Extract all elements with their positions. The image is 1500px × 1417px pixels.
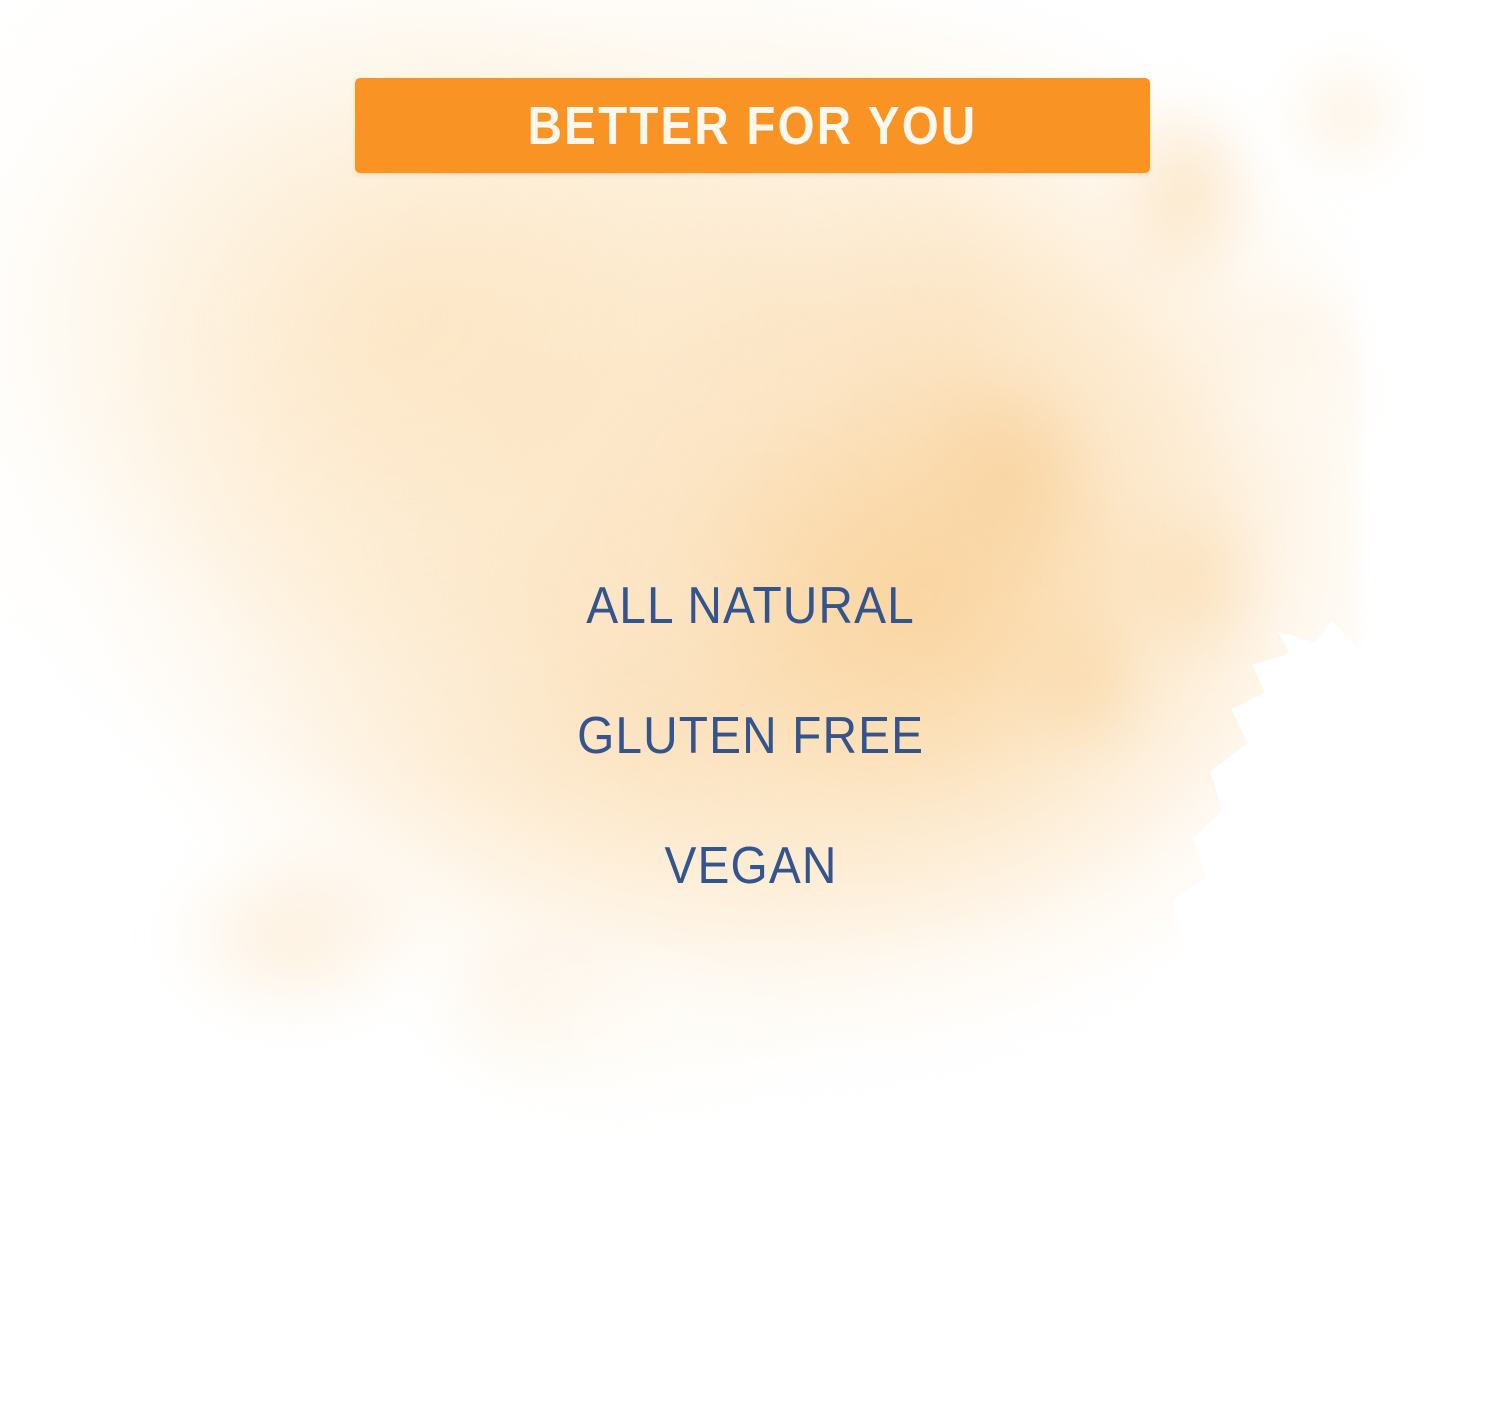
wash-highlight-top-right bbox=[1120, 250, 1450, 550]
wash-fade-bottom bbox=[0, 1197, 1500, 1417]
claim-vegan: VEGAN bbox=[664, 840, 837, 892]
banner-label: BETTER FOR YOU bbox=[528, 99, 978, 153]
wash-edge-bottom bbox=[0, 1157, 1120, 1417]
wash-edge-bottom-right bbox=[880, 1017, 1500, 1417]
wash-highlight-center bbox=[300, 880, 940, 1180]
product-claims-panel: BETTER FOR YOU ALL NATURAL GLUTEN FREE V… bbox=[0, 0, 1500, 1417]
claim-gluten-free: GLUTEN FREE bbox=[577, 710, 924, 762]
claim-all-natural: ALL NATURAL bbox=[587, 580, 916, 632]
better-for-you-banner: BETTER FOR YOU bbox=[355, 78, 1150, 173]
claims-list: ALL NATURAL GLUTEN FREE VEGAN bbox=[0, 580, 1500, 892]
